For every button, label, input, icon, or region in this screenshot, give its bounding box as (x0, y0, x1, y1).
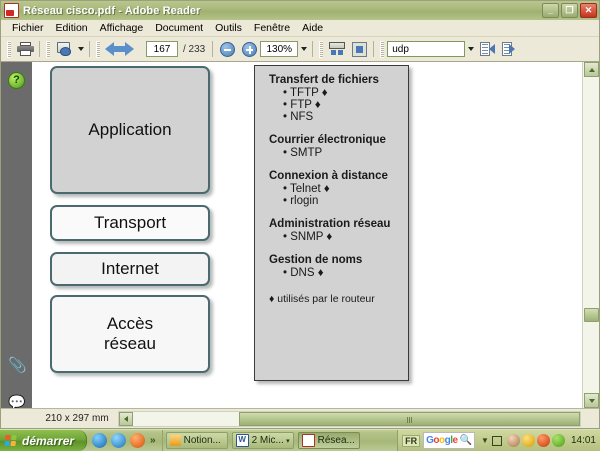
arrow-left-icon (105, 42, 114, 56)
tray-expand-icon[interactable] (492, 436, 502, 446)
windows-flag-icon (4, 435, 18, 447)
tray-icon-1[interactable] (507, 434, 520, 447)
menu-edition[interactable]: Edition (50, 21, 94, 35)
tray-icon-2[interactable] (522, 434, 535, 447)
task-button-word[interactable]: W 2 Mic... ▾ (232, 432, 294, 449)
show-desktop-icon[interactable] (92, 433, 107, 448)
folder-icon (170, 435, 181, 446)
fit-width-button[interactable] (348, 39, 370, 60)
document-area: ? 📎 💬 Application Transport Internet (1, 62, 599, 408)
search-dropdown-caret[interactable] (465, 41, 476, 57)
find-next-button[interactable] (498, 39, 520, 60)
group-heading: Administration réseau (269, 218, 408, 230)
separator (89, 41, 90, 57)
pdf-icon (4, 3, 19, 18)
find-previous-icon (480, 42, 495, 56)
quick-launch-bar: » (87, 430, 163, 451)
toolbar-grip[interactable] (96, 41, 100, 58)
layer-box-acces-reseau: Accès réseau (50, 295, 210, 373)
layer-box-internet: Internet (50, 252, 210, 286)
scroll-left-icon[interactable] (119, 412, 133, 426)
spacer (269, 123, 408, 134)
vertical-scroll-thumb[interactable] (584, 308, 599, 322)
screen: Réseau cisco.pdf - Adobe Reader _ ❐ ✕ Fi… (0, 0, 600, 450)
group-item: • SMTP (283, 147, 408, 159)
clock[interactable]: 14:01 (571, 435, 596, 446)
menu-document[interactable]: Document (149, 21, 209, 35)
status-bar: 210 x 297 mm (1, 408, 599, 428)
google-toolbar[interactable]: Google 🔍 (423, 432, 475, 449)
pdf-icon (302, 434, 315, 447)
layer-label: Transport (94, 213, 166, 233)
layer-box-application: Application (50, 66, 210, 194)
menu-bar: Fichier Edition Affichage Document Outil… (1, 20, 599, 37)
find-next-icon (502, 42, 517, 56)
chevron-down-icon[interactable]: ▾ (286, 437, 290, 445)
menu-outils[interactable]: Outils (209, 21, 248, 35)
scroll-up-icon[interactable] (584, 62, 599, 77)
group-item: • DNS ♦ (283, 267, 408, 279)
printer-icon (17, 42, 34, 56)
window-controls: _ ❐ ✕ (542, 3, 597, 18)
zoom-level-input[interactable]: 130% (260, 41, 298, 57)
restore-button[interactable]: ❐ (561, 3, 578, 18)
slide-content: Application Transport Internet Accès rés… (32, 62, 582, 408)
layer-label: Accès réseau (104, 314, 156, 353)
menu-fichier[interactable]: Fichier (6, 21, 50, 35)
zoom-out-button[interactable] (216, 39, 238, 60)
save-copy-icon (56, 42, 73, 57)
group-heading: Transfert de fichiers (269, 74, 408, 86)
task-label: 2 Mic... (252, 435, 284, 446)
group-heading: Gestion de noms (269, 254, 408, 266)
spacer (269, 243, 408, 254)
spacer (269, 159, 408, 170)
group-heading: Connexion à distance (269, 170, 408, 182)
taskbar: démarrer » Notion... W 2 Mic... ▾ Résea.… (0, 429, 600, 451)
start-label: démarrer (22, 434, 74, 448)
logo-letter: e (453, 435, 458, 446)
fit-width-icon (352, 42, 367, 57)
attachments-icon[interactable]: 📎 (8, 357, 25, 374)
start-button[interactable]: démarrer (0, 430, 87, 451)
layer-label: Application (88, 120, 171, 140)
group-item: • FTP ♦ (283, 99, 408, 111)
restore-icon: ❐ (565, 6, 573, 15)
task-label: Notion... (184, 435, 221, 446)
help-icon[interactable]: ? (8, 72, 25, 89)
google-logo-icon: Google (426, 435, 457, 446)
word-icon: W (236, 434, 249, 447)
tray-icon-4[interactable] (552, 434, 565, 447)
menu-fenetre[interactable]: Fenêtre (248, 21, 296, 35)
group-item: • rlogin (283, 195, 408, 207)
task-button-notion[interactable]: Notion... (166, 432, 228, 449)
panel-footnote: ♦ utilisés par le routeur (269, 293, 408, 305)
next-page-button[interactable] (123, 41, 143, 57)
print-button[interactable] (14, 39, 36, 60)
spacer (269, 207, 408, 218)
firefox-icon[interactable] (130, 433, 145, 448)
toolbar-grip[interactable] (380, 41, 384, 58)
toolbar-grip[interactable] (46, 41, 50, 58)
save-copy-button[interactable] (53, 39, 75, 60)
menu-affichage[interactable]: Affichage (94, 21, 150, 35)
menu-aide[interactable]: Aide (296, 21, 329, 35)
layer-box-transport: Transport (50, 205, 210, 241)
page-total-label: / 233 (183, 44, 205, 55)
separator (312, 41, 313, 57)
scroll-down-icon[interactable] (584, 393, 599, 408)
navigation-pane: ? 📎 💬 (1, 62, 33, 408)
zoom-in-icon (242, 42, 257, 57)
horizontal-scroll-thumb[interactable] (239, 412, 580, 426)
toolbar-grip[interactable] (319, 41, 323, 58)
task-list: Notion... W 2 Mic... ▾ Résea... (163, 430, 398, 451)
protocols-panel: Transfert de fichiers • TFTP ♦ • FTP ♦ •… (254, 65, 409, 381)
adobe-reader-window: Réseau cisco.pdf - Adobe Reader _ ❐ ✕ Fi… (0, 0, 600, 429)
title-bar: Réseau cisco.pdf - Adobe Reader _ ❐ ✕ (1, 1, 599, 20)
group-item: • NFS (283, 111, 408, 123)
close-button[interactable]: ✕ (580, 3, 597, 18)
find-previous-button[interactable] (476, 39, 498, 60)
separator (373, 41, 374, 57)
separator (39, 41, 40, 57)
fit-page-button[interactable] (326, 39, 348, 60)
fit-page-icon (329, 42, 345, 57)
vertical-scrollbar[interactable] (582, 62, 599, 408)
minimize-icon: _ (548, 6, 553, 15)
magnifier-icon[interactable]: 🔍 (460, 435, 472, 446)
arrow-right-icon (125, 42, 134, 56)
internet-explorer-icon[interactable] (111, 433, 126, 448)
task-button-reseau[interactable]: Résea... (298, 432, 360, 449)
chevron-down-icon[interactable]: ▼ (481, 436, 489, 445)
window-title: Réseau cisco.pdf - Adobe Reader (23, 5, 542, 17)
toolbar: 167 / 233 130% udp (1, 37, 599, 62)
close-icon: ✕ (585, 6, 593, 15)
zoom-dropdown-caret[interactable] (298, 41, 309, 57)
group-item: • Telnet ♦ (283, 183, 408, 195)
group-item: • SNMP ♦ (283, 231, 408, 243)
task-label: Résea... (318, 435, 355, 446)
group-heading: Courrier électronique (269, 134, 408, 146)
separator (212, 41, 213, 57)
layer-label: Internet (101, 259, 159, 279)
language-indicator[interactable]: FR (402, 435, 420, 447)
page-size-label: 210 x 297 mm (38, 413, 116, 424)
group-item: • TFTP ♦ (283, 87, 408, 99)
tray-icon-3[interactable] (537, 434, 550, 447)
search-input[interactable]: udp (387, 41, 465, 57)
zoom-in-button[interactable] (238, 39, 260, 60)
minimize-button[interactable]: _ (542, 3, 559, 18)
page-number-input[interactable]: 167 (146, 41, 178, 57)
horizontal-scrollbar[interactable] (118, 411, 581, 427)
toolbar-grip[interactable] (7, 41, 11, 58)
page-viewport[interactable]: Application Transport Internet Accès rés… (32, 62, 582, 408)
zoom-out-icon (220, 42, 235, 57)
quick-launch-overflow[interactable]: » (150, 435, 156, 446)
pdf-page: Application Transport Internet Accès rés… (32, 62, 582, 408)
system-tray: FR Google 🔍 ▼ 14:01 (397, 430, 600, 451)
save-options-caret[interactable] (75, 41, 86, 57)
